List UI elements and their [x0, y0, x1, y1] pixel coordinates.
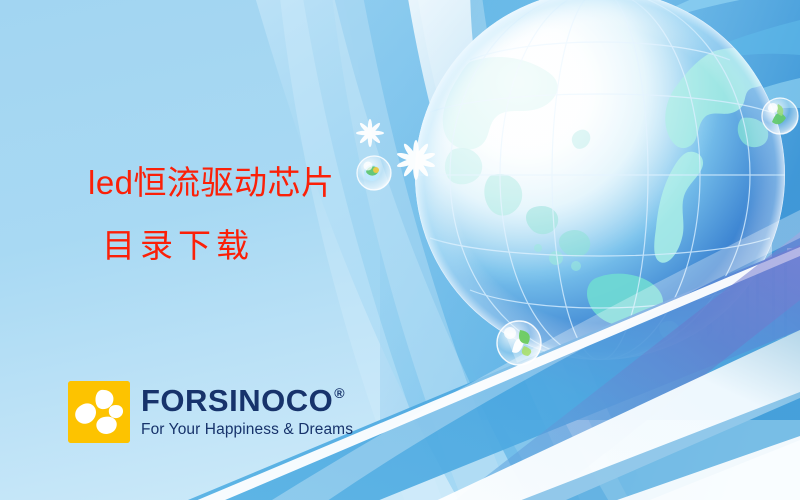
logo-wordmark-text: FORSINOCO	[141, 385, 333, 416]
bubble-globe-top-right	[762, 98, 798, 134]
logo-wordmark: FORSINOCO®	[141, 385, 353, 416]
logo-text-block: FORSINOCO® For Your Happiness & Dreams	[141, 385, 353, 439]
daisy-flower-small	[356, 119, 384, 147]
company-logo: FORSINOCO® For Your Happiness & Dreams	[68, 381, 353, 443]
registered-trademark-icon: ®	[334, 386, 345, 400]
four-petal-pinwheel-icon	[68, 381, 130, 443]
logo-tagline: For Your Happiness & Dreams	[141, 421, 353, 439]
bubble-globe-mid-left	[357, 156, 391, 190]
bubble-globe-lower	[497, 321, 541, 365]
banner-image: led恒流驱动芯片 目录下载 FORSINOCO® For Your Happi…	[0, 0, 800, 500]
